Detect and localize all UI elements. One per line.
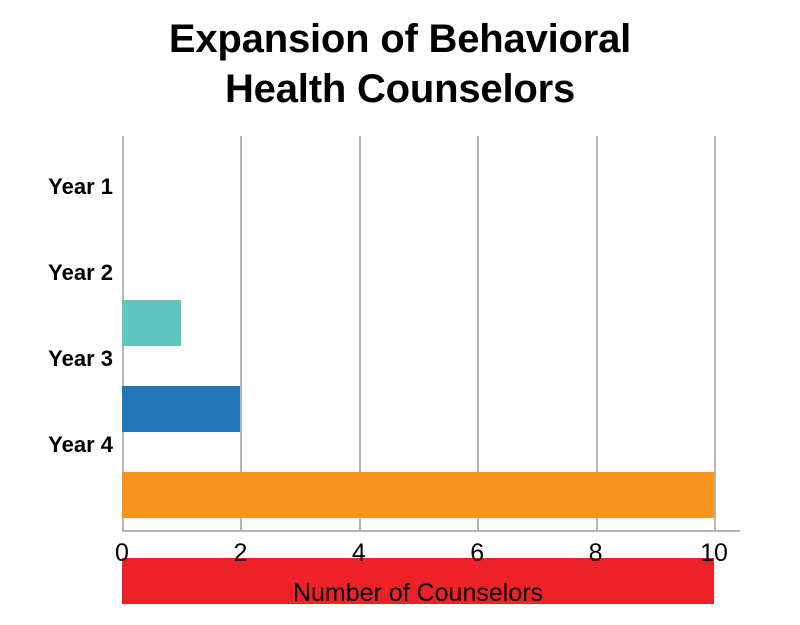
x-tick-label-10: 10 bbox=[684, 538, 744, 568]
category-label-year-2: Year 2 bbox=[0, 260, 113, 286]
x-tick-label-6: 6 bbox=[447, 538, 507, 568]
category-label-year-3: Year 3 bbox=[0, 346, 113, 372]
x-tick-label-4: 4 bbox=[329, 538, 389, 568]
x-tick-label-0: 0 bbox=[92, 538, 152, 568]
bar-year-1[interactable] bbox=[122, 300, 181, 346]
plot-area bbox=[122, 136, 714, 530]
category-label-year-4: Year 4 bbox=[0, 432, 113, 458]
bar-slot bbox=[122, 366, 714, 452]
category-label-year-1: Year 1 bbox=[0, 174, 113, 200]
x-axis-title: Number of Counselors bbox=[122, 578, 714, 608]
x-tick-label-2: 2 bbox=[210, 538, 270, 568]
bar-year-2[interactable] bbox=[122, 386, 240, 432]
gridline-10 bbox=[714, 136, 716, 530]
chart-title: Expansion of Behavioral Health Counselor… bbox=[0, 14, 800, 114]
bar-slot bbox=[122, 280, 714, 366]
bar-year-3[interactable] bbox=[122, 472, 714, 518]
bar-slot bbox=[122, 452, 714, 538]
x-tick-label-8: 8 bbox=[566, 538, 626, 568]
